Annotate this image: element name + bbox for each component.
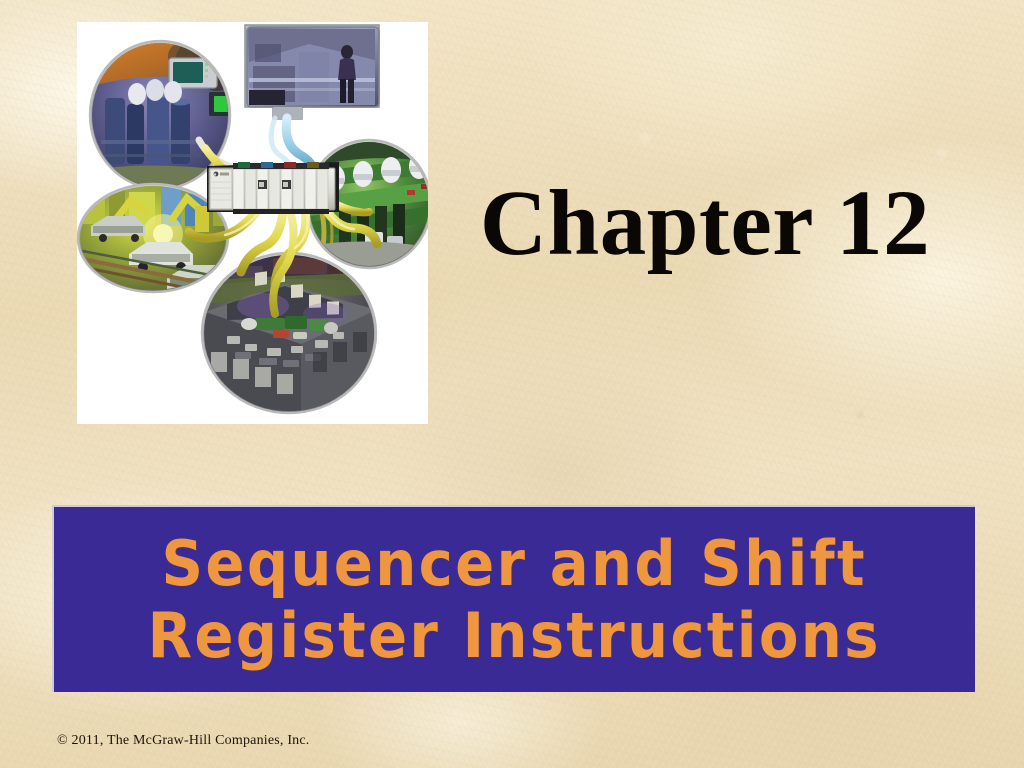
subtitle-banner: Sequencer and Shift Register Instruction… (52, 505, 975, 692)
plc-controller-rack (207, 162, 339, 214)
subtitle-line-1: Sequencer and Shift (162, 528, 867, 600)
copyright-notice: © 2011, The McGraw-Hill Companies, Inc. (57, 733, 310, 749)
page-title: Chapter 12 (455, 176, 955, 273)
automation-collage-svg (77, 22, 428, 424)
hmi-display-vignette (245, 25, 379, 119)
automation-collage-image (77, 22, 428, 424)
slide-root: Chapter 12 Sequencer and Shift Register … (0, 0, 1024, 768)
subtitle-line-2: Register Instructions (148, 600, 881, 672)
